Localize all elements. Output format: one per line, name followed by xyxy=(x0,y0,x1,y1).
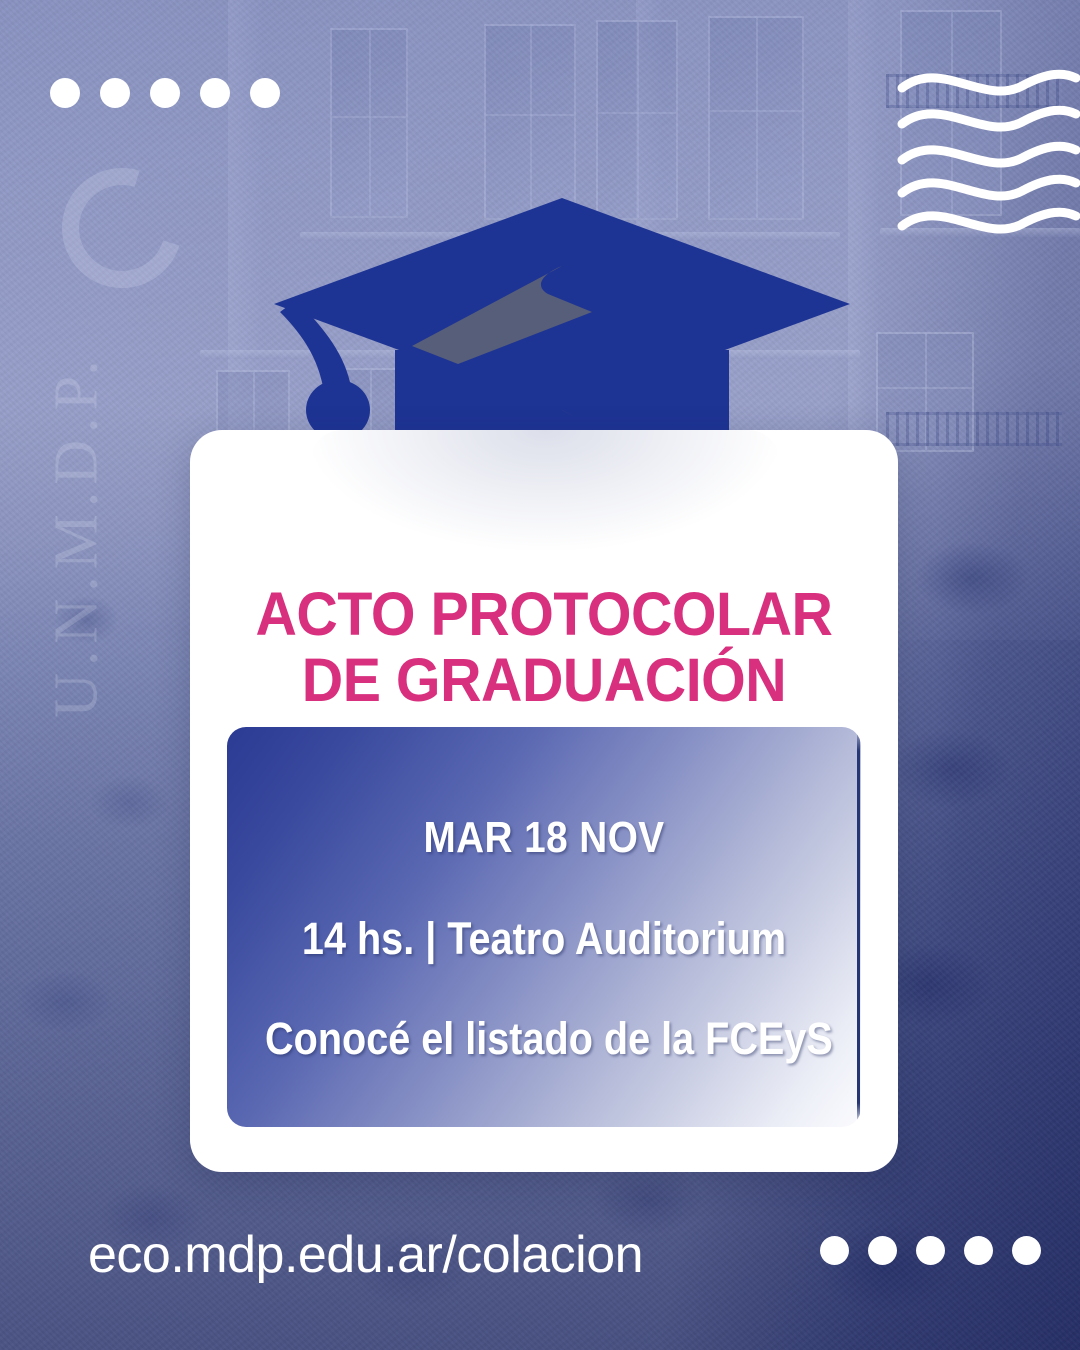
dot-icon xyxy=(916,1236,945,1265)
event-details-box: MAR 18 NOV 14 hs. | Teatro Auditorium Co… xyxy=(227,727,861,1127)
dot-icon xyxy=(200,78,230,108)
wave-line xyxy=(902,179,1076,196)
footer-url-link[interactable]: eco.mdp.edu.ar/colacion xyxy=(88,1225,643,1285)
decor-wave-lines-icon xyxy=(896,62,1080,234)
poster-root: U.N.M.D.P. xyxy=(0,0,1080,1350)
event-call-to-action: Conocé el listado de la FCEyS xyxy=(265,1013,823,1065)
event-date: MAR 18 NOV xyxy=(265,813,823,863)
dot-icon xyxy=(868,1236,897,1265)
content-card: ACTO PROTOCOLAR DE GRADUACIÓN MAR 18 NOV… xyxy=(190,430,898,1172)
wave-line xyxy=(902,110,1076,127)
dot-icon xyxy=(50,78,80,108)
wave-line xyxy=(902,146,1076,163)
wave-line xyxy=(902,74,1076,91)
event-details-box-edge xyxy=(857,727,860,1127)
dot-icon xyxy=(964,1236,993,1265)
wave-line xyxy=(902,212,1076,229)
title-line-2: DE GRADUACIÓN xyxy=(211,648,877,714)
dot-icon xyxy=(250,78,280,108)
dot-icon xyxy=(150,78,180,108)
dot-icon xyxy=(820,1236,849,1265)
decor-dots-top-left xyxy=(50,78,280,108)
unmdp-watermark-text: U.N.M.D.P. xyxy=(42,321,113,751)
page-title: ACTO PROTOCOLAR DE GRADUACIÓN xyxy=(211,582,877,714)
title-line-1: ACTO PROTOCOLAR xyxy=(211,582,877,648)
card-cap-shadow xyxy=(310,430,780,550)
event-time-and-venue: 14 hs. | Teatro Auditorium xyxy=(265,913,823,965)
dot-icon xyxy=(1012,1236,1041,1265)
decor-dots-bottom-right xyxy=(820,1236,1060,1265)
dot-icon xyxy=(100,78,130,108)
